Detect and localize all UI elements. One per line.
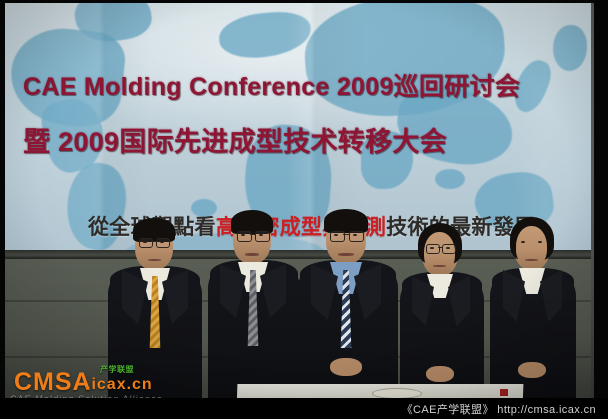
person-2-eye-left bbox=[241, 234, 245, 236]
person-1-glasses-bridge bbox=[151, 241, 156, 242]
frame-edge-left bbox=[0, 0, 5, 419]
conference-group-photo: CAE Molding Conference 2009巡回研讨会 暨 2009国… bbox=[0, 0, 608, 419]
banner-headline-line-1: CAE Molding Conference 2009巡回研讨会 bbox=[23, 67, 520, 103]
person-3-hair bbox=[324, 209, 368, 233]
person-4-hands bbox=[426, 366, 454, 382]
person-3-hands bbox=[330, 358, 362, 376]
person-3-mouth bbox=[338, 253, 354, 256]
person-5-face bbox=[516, 226, 547, 268]
table-object-red-item bbox=[500, 389, 508, 396]
person-3-glasses-left bbox=[330, 231, 345, 242]
person-4-eye-right bbox=[446, 247, 450, 249]
frame-edge-top bbox=[0, 0, 608, 3]
watermark-green-tag: 产学联盟 bbox=[100, 364, 134, 375]
person-2-glasses-bridge bbox=[250, 234, 255, 235]
person-4-eye-left bbox=[430, 247, 434, 249]
bottom-letterbox-bar: 《CAE产学联盟》 http://cmsa.icax.cn bbox=[0, 398, 608, 419]
person-2-eye-right bbox=[259, 234, 263, 236]
map-landmass-island-1 bbox=[435, 169, 465, 189]
person-1-mouth bbox=[148, 259, 161, 261]
person-5-hands bbox=[518, 362, 546, 378]
person-1-eye-left bbox=[143, 241, 147, 243]
person-1-glasses-right bbox=[156, 238, 170, 248]
footer-credit: 《CAE产学联盟》 http://cmsa.icax.cn bbox=[402, 401, 596, 417]
person-2-glasses-right bbox=[255, 231, 270, 242]
person-2-glasses-left bbox=[237, 231, 252, 242]
person-5-mouth bbox=[525, 259, 538, 261]
person-4-mouth bbox=[433, 265, 446, 267]
person-5-eye-left bbox=[521, 241, 525, 243]
watermark-brand: CMSA bbox=[14, 368, 92, 397]
person-4-glasses-left bbox=[426, 244, 440, 254]
person-1-glasses-left bbox=[139, 238, 153, 248]
person-3-glasses-bridge bbox=[343, 234, 349, 235]
person-5-eye-right bbox=[538, 241, 542, 243]
person-4-glasses-bridge bbox=[438, 247, 442, 248]
map-landmass-island-3 bbox=[553, 25, 587, 71]
banner-bottom-rail bbox=[5, 250, 591, 259]
person-4-glasses-right bbox=[442, 244, 456, 254]
person-3-glasses-right bbox=[349, 231, 364, 242]
person-2-mouth bbox=[245, 253, 259, 256]
frame-edge-right bbox=[594, 0, 608, 419]
person-3-eye-left bbox=[334, 234, 338, 236]
person-3-eye-right bbox=[353, 234, 357, 236]
banner-headline-line-2: 暨 2009国际先进成型技术转移大会 bbox=[23, 120, 447, 159]
watermark-domain: .icax.cn bbox=[86, 376, 153, 394]
map-landmass-europe bbox=[217, 9, 312, 61]
person-1-eye-right bbox=[160, 241, 164, 243]
conference-backdrop-banner: CAE Molding Conference 2009巡回研讨会 暨 2009国… bbox=[5, 3, 591, 255]
